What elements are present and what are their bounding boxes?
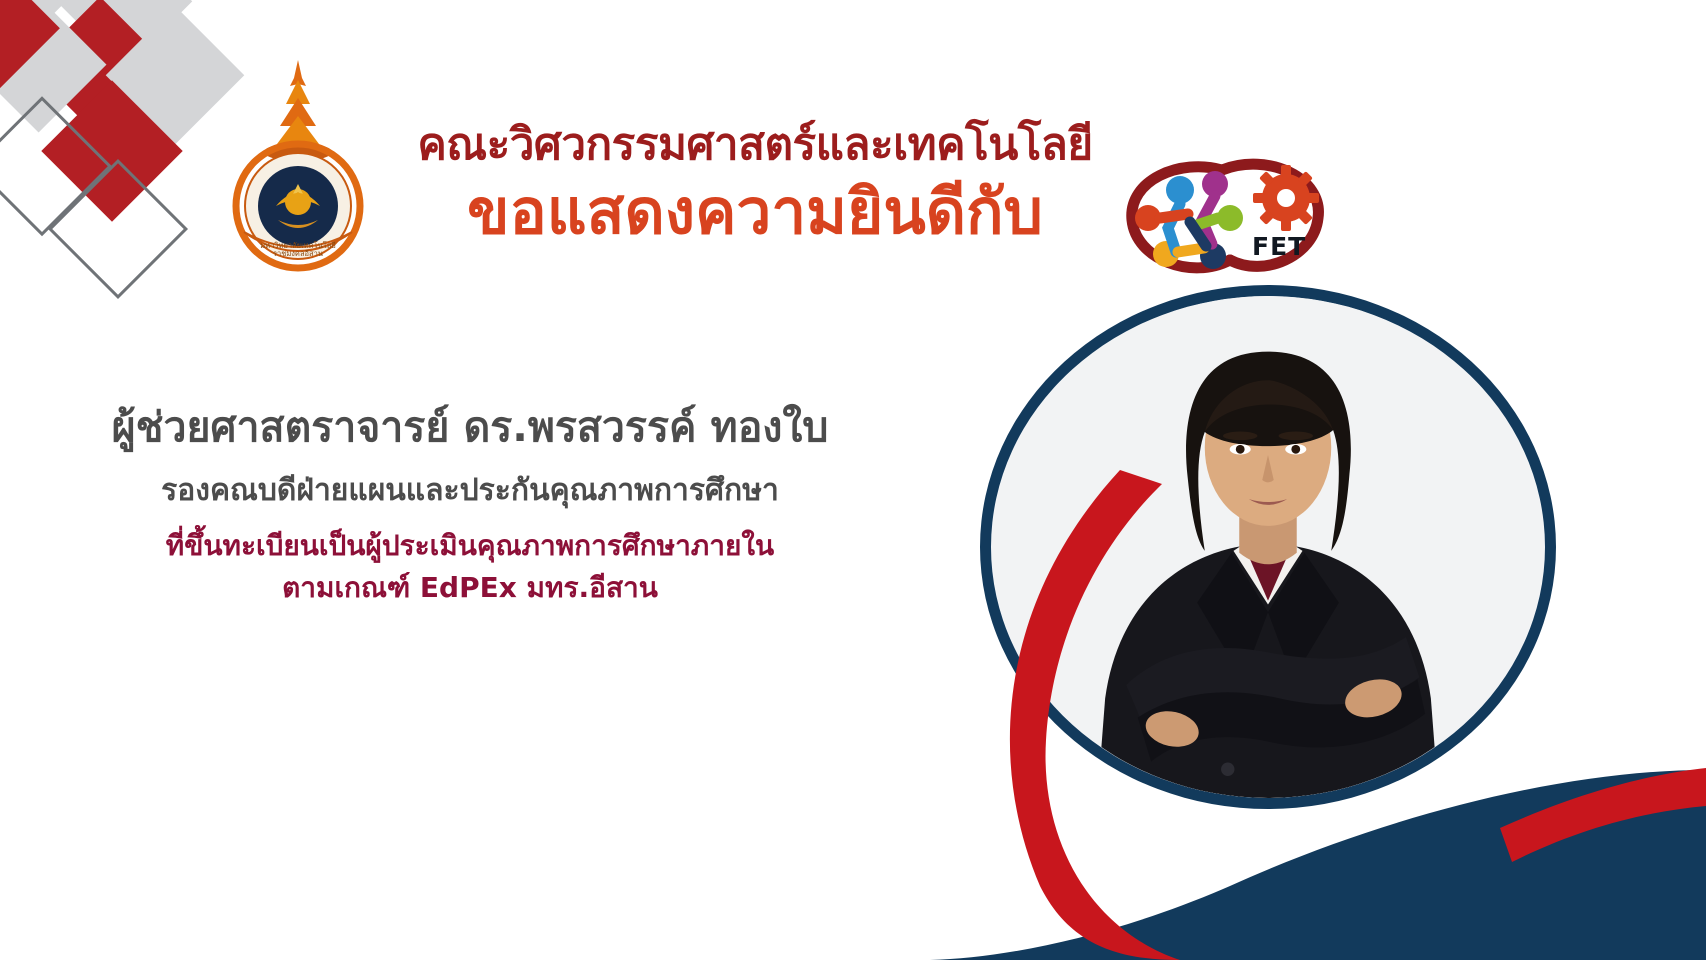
credential-line-2: ตามเกณฑ์ EdPEx มทร.อีสาน — [0, 567, 940, 609]
rmuti-university-seal-icon: มหาวิทยาลัยเทคโนโลยี ราชมงคลอีสาน — [214, 56, 382, 276]
faculty-name: คณะวิศวกรรมศาสตร์และเทคโนโลยี — [390, 120, 1120, 171]
congratulations-poster: มหาวิทยาลัยเทคโนโลยี ราชมงคลอีสาน คณะวิศ… — [0, 0, 1706, 960]
credential-line-1: ที่ขึ้นทะเบียนเป็นผู้ประเมินคุณภาพการศึก… — [0, 525, 940, 567]
person-role: รองคณบดีฝ่ายแผนและประกันคุณภาพการศึกษา — [0, 469, 940, 513]
portrait-container — [980, 285, 1600, 825]
fet-label: FET — [1252, 232, 1306, 261]
svg-text:ราชมงคลอีสาน: ราชมงคลอีสาน — [273, 249, 323, 258]
person-name: ผู้ช่วยศาสตราจารย์ ดร.พรสวรรค์ ทองใบ — [0, 400, 940, 455]
portrait-photo — [991, 296, 1545, 798]
header-title-group: คณะวิศวกรรมศาสตร์และเทคโนโลยี ขอแสดงความ… — [390, 120, 1120, 248]
fet-people-infinity-gear-logo-icon — [1118, 156, 1328, 286]
congratulations-headline: ขอแสดงความยินดีกับ — [390, 175, 1120, 248]
honoree-details: ผู้ช่วยศาสตราจารย์ ดร.พรสวรรค์ ทองใบ รอง… — [0, 400, 940, 609]
header: มหาวิทยาลัยเทคโนโลยี ราชมงคลอีสาน คณะวิศ… — [0, 28, 1400, 278]
portrait-ring — [980, 285, 1556, 809]
